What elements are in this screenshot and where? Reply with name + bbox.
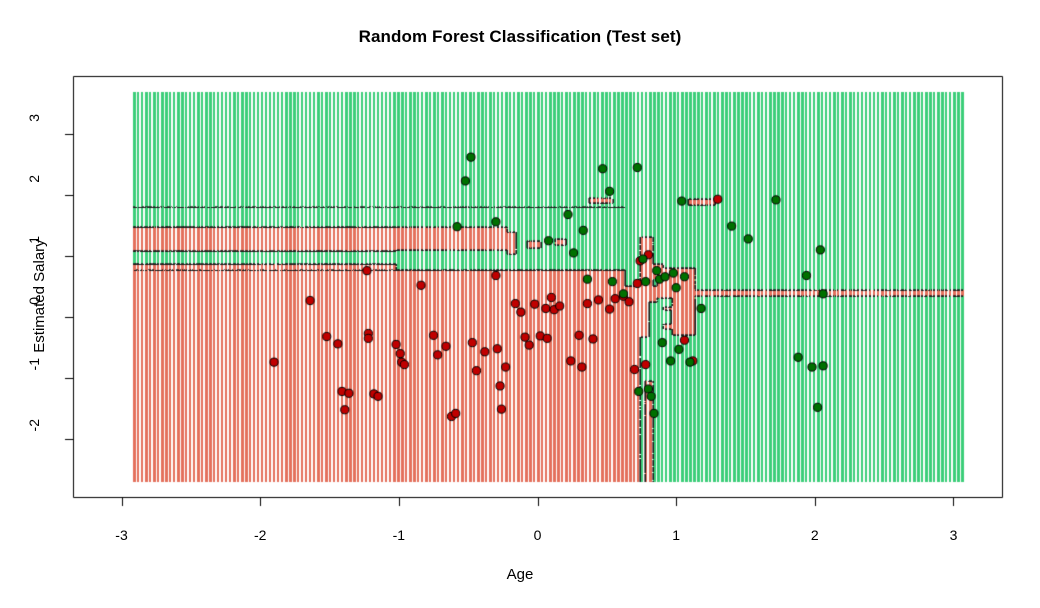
x-tick-label: 0 <box>518 528 558 542</box>
x-axis-label: Age <box>0 567 1040 582</box>
y-tick-label: 1 <box>27 236 41 276</box>
page-title: Random Forest Classification (Test set) <box>0 28 1040 45</box>
x-tick-label: 2 <box>795 528 835 542</box>
y-tick-label: 0 <box>27 297 41 337</box>
y-tick-label: -2 <box>27 419 41 459</box>
y-tick-label: 3 <box>27 114 41 154</box>
x-tick-label: -2 <box>240 528 280 542</box>
y-tick-label: 2 <box>27 175 41 215</box>
plot-canvas <box>0 0 1040 608</box>
x-tick-label: -3 <box>102 528 142 542</box>
x-tick-label: 1 <box>656 528 696 542</box>
y-tick-label: -1 <box>27 358 41 398</box>
x-tick-label: -1 <box>379 528 419 542</box>
x-tick-label: 3 <box>933 528 973 542</box>
random-forest-classification-plot: Random Forest Classification (Test set) … <box>0 0 1040 608</box>
